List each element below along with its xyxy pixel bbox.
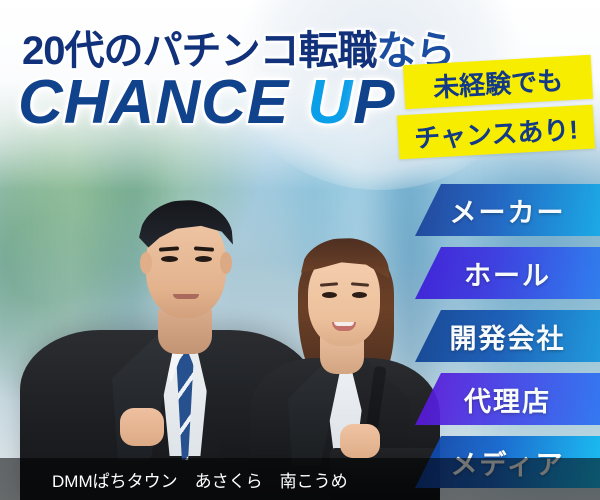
category-label-agency: 代理店	[464, 380, 551, 419]
category-button-hall[interactable]: ホール	[415, 247, 600, 299]
category-label-hall: ホール	[464, 254, 551, 293]
category-button-development-company[interactable]: 開発会社	[415, 310, 600, 362]
category-label-maker: メーカー	[450, 191, 566, 230]
man-hand	[120, 408, 164, 446]
woman-hand	[340, 424, 380, 458]
category-label-development-company: 開発会社	[450, 317, 566, 356]
woman-eye-right	[352, 292, 367, 298]
woman-eye-left	[322, 292, 337, 298]
credit-bar: DMMぱちタウン あさくら 南こうめ	[0, 458, 600, 500]
logo-letter-p: P	[353, 68, 395, 137]
headline-lead: 20代のパチンコ転職	[22, 29, 377, 73]
man-ear-left	[140, 252, 152, 274]
category-button-maker[interactable]: メーカー	[415, 184, 600, 236]
credit-text: DMMぱちタウン あさくら 南こうめ	[52, 467, 348, 492]
logo-word-chance: CHANCE	[18, 68, 289, 137]
logo-chance-up: CHANCE UP	[18, 72, 396, 134]
man-eye-right	[195, 256, 212, 262]
promo-banner: 20代のパチンコ転職なら CHANCE UP 未経験でも チャンスあり! メーカ…	[0, 0, 600, 500]
logo-letter-u-arrow: U	[307, 68, 353, 137]
ribbon-label-2: チャンスあり!	[413, 109, 579, 155]
category-button-agency[interactable]: 代理店	[415, 373, 600, 425]
man-mouth	[173, 294, 199, 299]
ribbon-label-1: 未経験でも	[432, 60, 564, 104]
man-ear-right	[220, 252, 232, 274]
woman-teeth	[334, 322, 354, 326]
man-eye-left	[161, 256, 178, 262]
